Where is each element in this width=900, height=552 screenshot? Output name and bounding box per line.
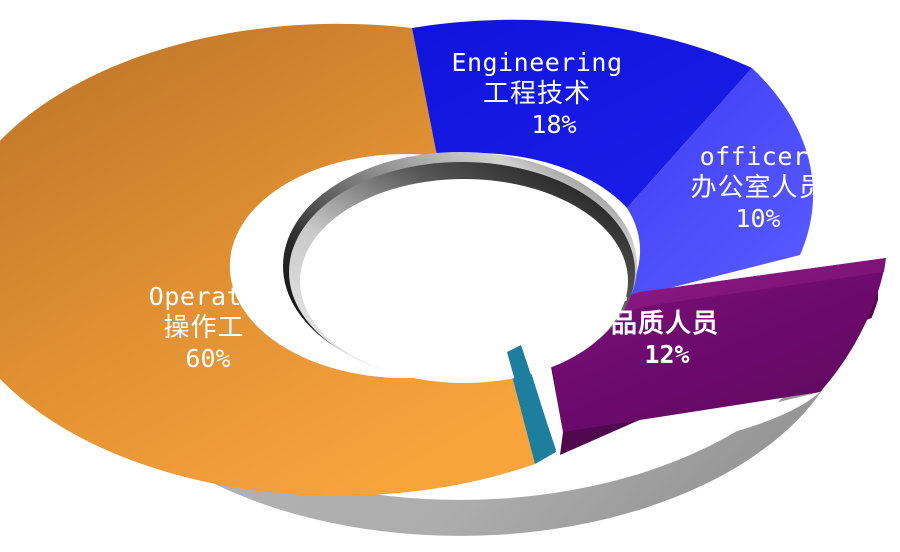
donut-chart-3d [0, 0, 900, 552]
chart-canvas: Engineering 工程技术 18% officer 办公室人员 10% Q… [0, 0, 900, 552]
donut-inner-hole [283, 152, 637, 383]
donut-hole-center [300, 179, 628, 383]
